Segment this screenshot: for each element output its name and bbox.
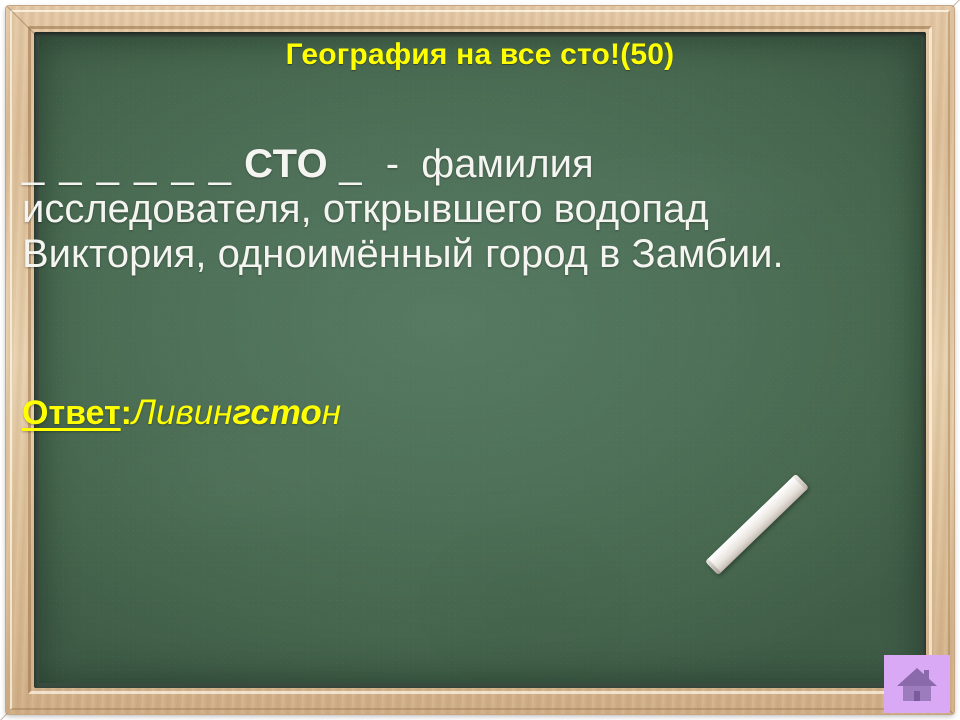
answer-label: Ответ xyxy=(22,394,121,432)
home-icon xyxy=(895,665,939,703)
question-dash: - xyxy=(386,142,399,186)
question-blank-after: _ xyxy=(339,142,363,186)
chalkboard xyxy=(39,37,921,683)
home-button[interactable] xyxy=(884,655,950,713)
answer-line: Ответ:Ливингстон xyxy=(22,393,341,433)
answer-value-suffix: н xyxy=(322,393,341,432)
frame-miter-bottom-left xyxy=(0,713,8,720)
answer-value: Ливингстон xyxy=(132,393,341,432)
answer-colon: : xyxy=(121,394,132,432)
slide-root: География на все сто!(50) _ _ _ _ _ _ СТ… xyxy=(0,0,960,720)
frame-miter-top-right xyxy=(952,0,960,7)
chalkboard-smudges xyxy=(39,37,921,683)
question-text: _ _ _ _ _ _ СТО _ - фамилия исследовател… xyxy=(22,142,867,278)
answer-value-stress: гсто xyxy=(232,393,321,432)
slide-title: География на все сто!(50) xyxy=(0,38,960,72)
chalkboard-texture xyxy=(39,37,921,683)
answer-value-prefix: Ливин xyxy=(132,393,232,432)
question-highlight-sto: СТО xyxy=(244,142,328,186)
question-blanks-before: _ _ _ _ _ _ xyxy=(22,142,233,186)
